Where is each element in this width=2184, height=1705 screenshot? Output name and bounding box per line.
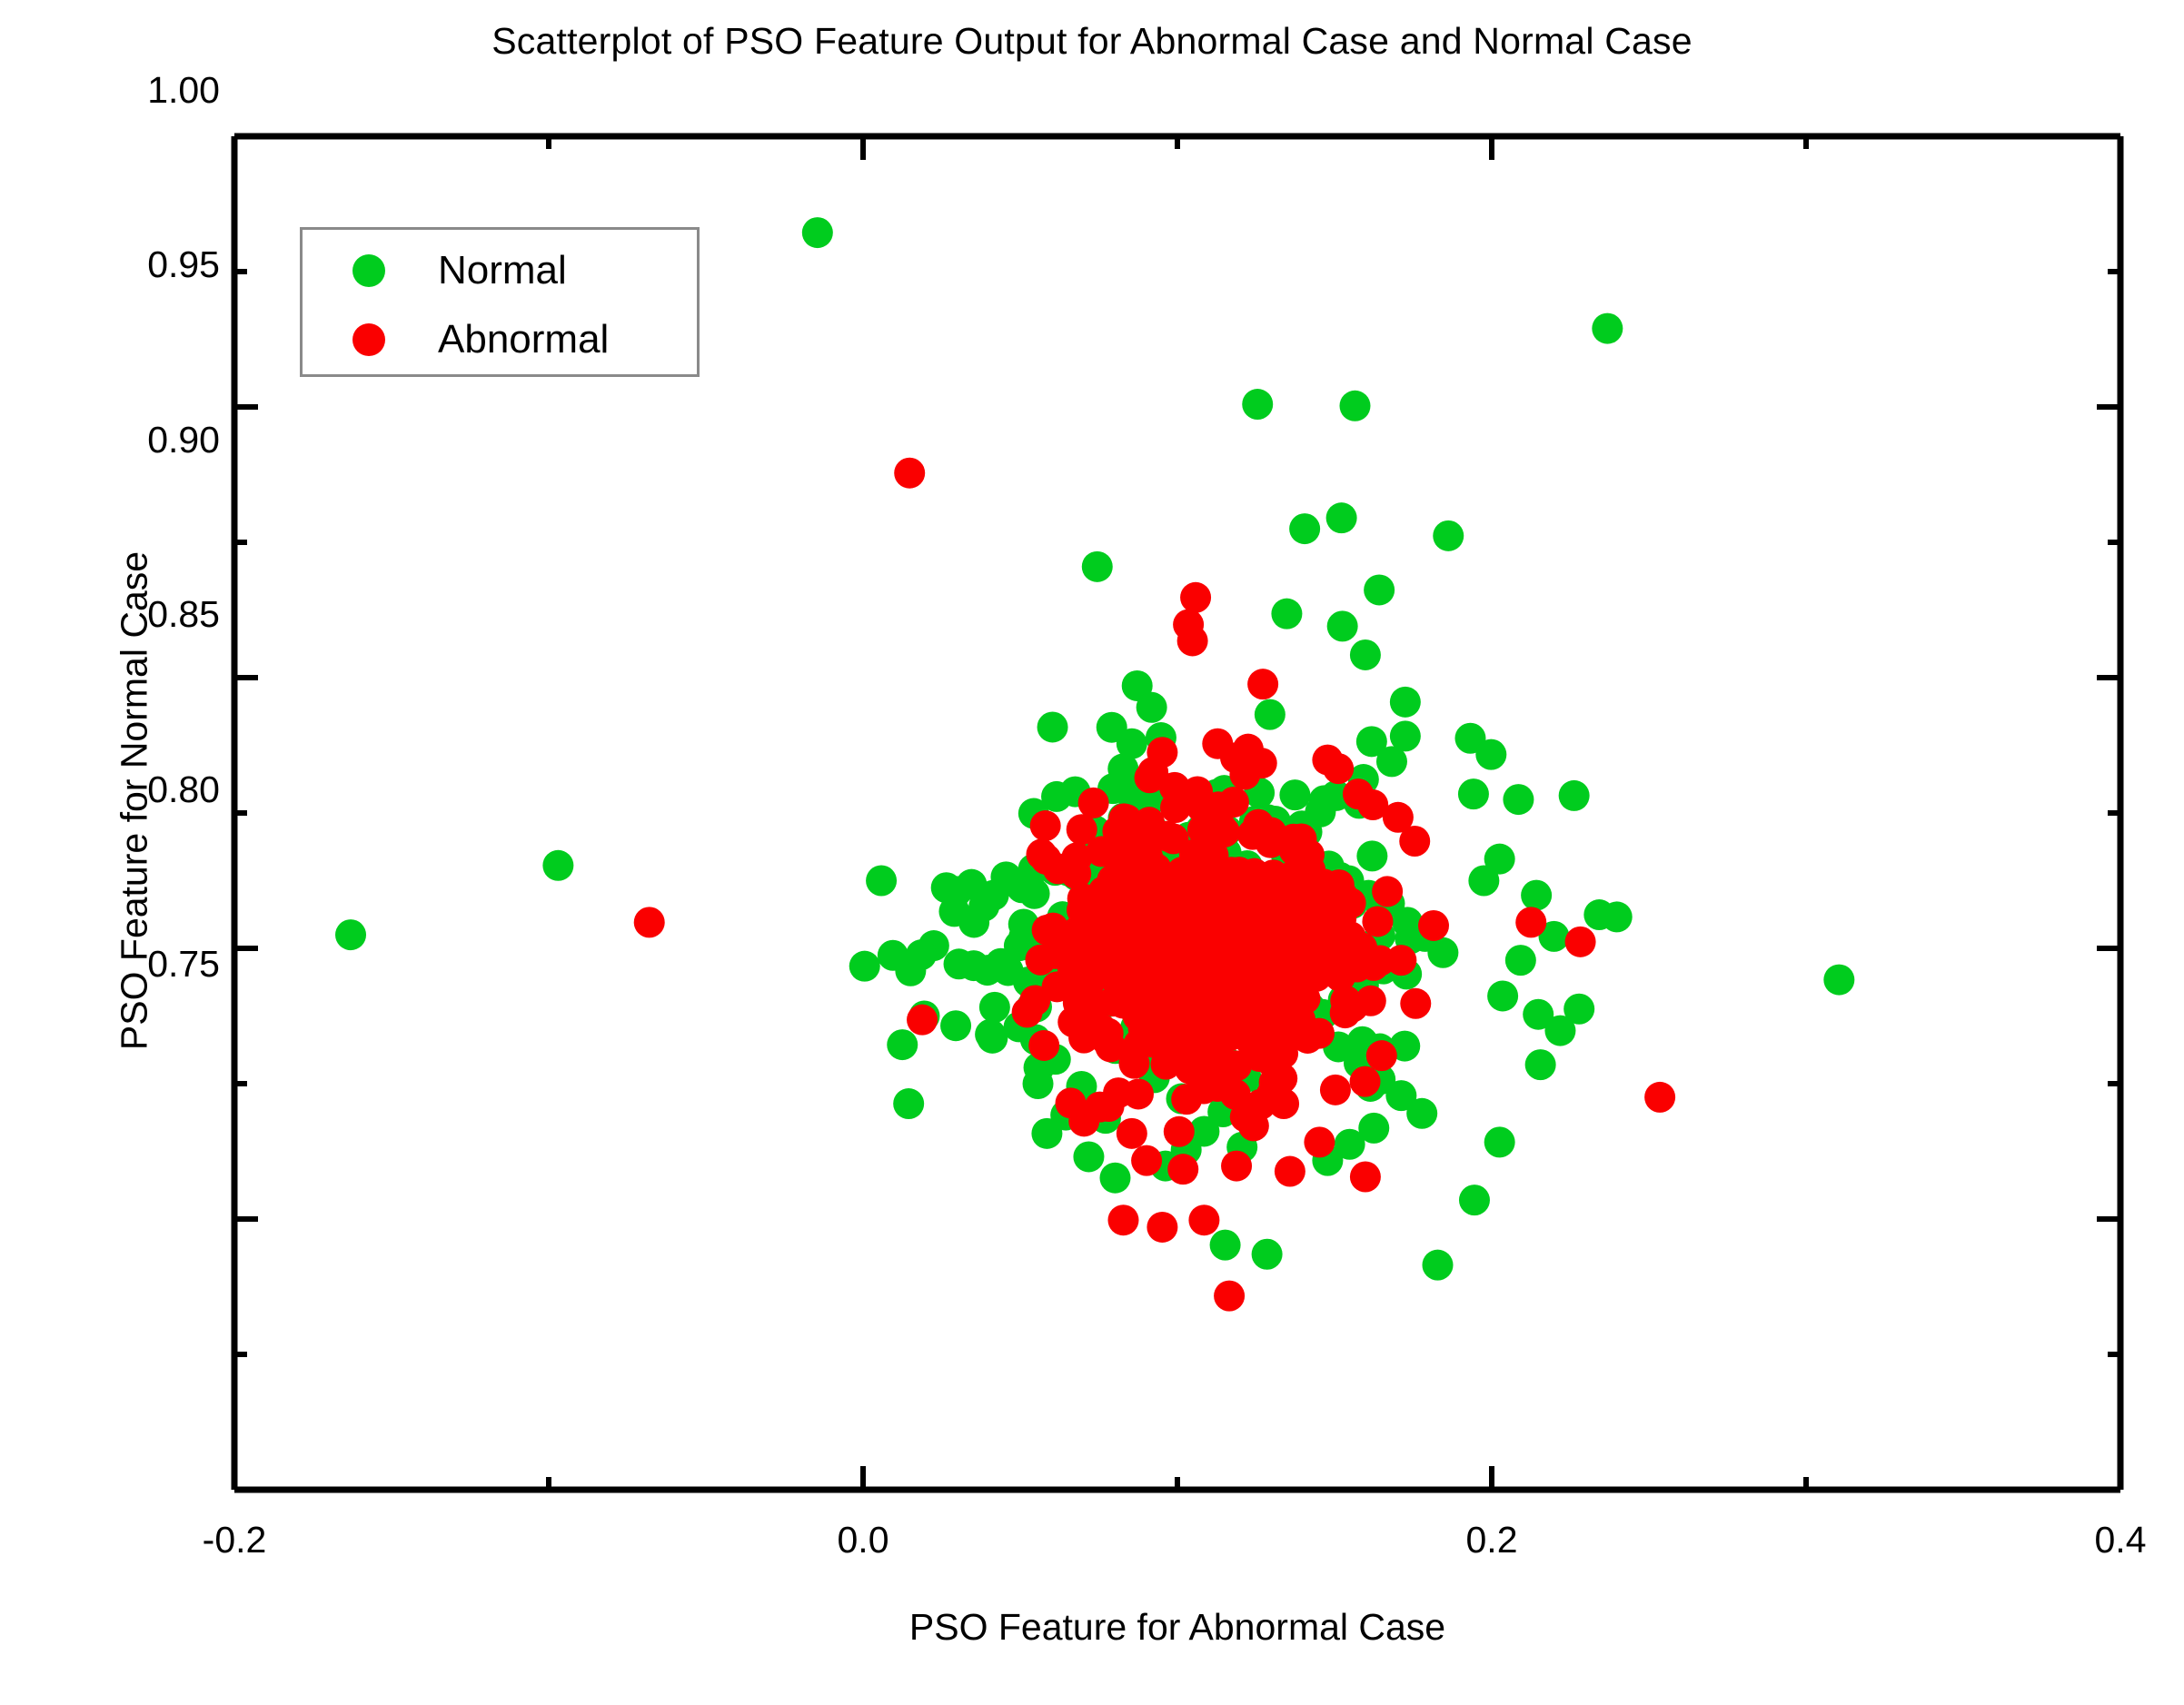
data-point bbox=[1012, 996, 1043, 1027]
data-point bbox=[1031, 1118, 1062, 1149]
y-tick-label-0.95: 0.95 bbox=[56, 243, 220, 286]
data-point bbox=[1247, 669, 1278, 699]
x-tick-label-0.2: 0.2 bbox=[1401, 1519, 1583, 1561]
data-point bbox=[1271, 599, 1302, 629]
data-point bbox=[1152, 821, 1183, 852]
data-point bbox=[1234, 1002, 1265, 1033]
data-point bbox=[1135, 762, 1166, 793]
x-tick-label-0.0: 0.0 bbox=[772, 1519, 954, 1561]
data-point bbox=[1364, 574, 1395, 605]
data-point bbox=[1487, 980, 1518, 1011]
data-point bbox=[958, 950, 989, 981]
chart-figure: Scatterplot of PSO Feature Output for Ab… bbox=[0, 0, 2184, 1705]
data-point bbox=[849, 951, 880, 982]
data-point bbox=[1525, 1049, 1556, 1080]
data-point bbox=[1188, 1010, 1219, 1041]
data-point bbox=[1221, 1151, 1252, 1182]
data-point bbox=[1366, 1040, 1397, 1071]
data-point bbox=[1037, 711, 1068, 742]
data-point bbox=[1459, 1185, 1490, 1215]
data-point bbox=[1339, 391, 1370, 421]
data-point bbox=[1271, 1016, 1302, 1046]
data-point bbox=[906, 939, 937, 970]
data-point bbox=[940, 1010, 971, 1041]
data-point bbox=[1287, 845, 1318, 876]
data-point bbox=[1221, 965, 1252, 996]
data-point bbox=[1350, 1162, 1381, 1193]
x-tick-label-0.4: 0.4 bbox=[2030, 1519, 2184, 1561]
data-point bbox=[1166, 880, 1197, 911]
data-point bbox=[1206, 812, 1236, 843]
data-point bbox=[1362, 906, 1393, 937]
data-point bbox=[335, 919, 366, 950]
data-point bbox=[1356, 840, 1387, 871]
data-point bbox=[1099, 1163, 1130, 1194]
data-point bbox=[1279, 779, 1310, 810]
data-point bbox=[1422, 1250, 1453, 1281]
series-abnormal bbox=[634, 458, 1675, 1312]
data-point bbox=[1304, 1126, 1335, 1157]
data-point bbox=[1118, 1048, 1149, 1079]
y-axis-title: PSO Feature for Normal Case bbox=[114, 347, 156, 1255]
data-point bbox=[1246, 748, 1277, 778]
data-point bbox=[1390, 687, 1421, 718]
data-point bbox=[1177, 625, 1208, 656]
data-point bbox=[1475, 739, 1506, 770]
data-point bbox=[1028, 1030, 1059, 1061]
data-point bbox=[1164, 1116, 1195, 1147]
data-point bbox=[1160, 792, 1191, 823]
data-point bbox=[1154, 919, 1185, 950]
data-point bbox=[1111, 804, 1142, 835]
data-point bbox=[802, 217, 833, 248]
data-point bbox=[1178, 963, 1209, 994]
data-point bbox=[1326, 502, 1357, 533]
data-point bbox=[1346, 932, 1377, 963]
data-point bbox=[1515, 907, 1546, 937]
data-point bbox=[894, 458, 925, 489]
data-point bbox=[1323, 753, 1354, 784]
data-point bbox=[1243, 809, 1274, 840]
data-point bbox=[1399, 826, 1430, 857]
data-point bbox=[1242, 389, 1273, 420]
chart-legend: Normal Abnormal bbox=[300, 227, 700, 377]
data-point bbox=[1087, 1017, 1117, 1048]
data-point bbox=[1258, 859, 1289, 890]
data-point bbox=[1094, 1091, 1125, 1122]
data-point bbox=[866, 866, 897, 897]
data-point bbox=[1082, 551, 1113, 582]
data-point bbox=[1484, 1126, 1515, 1157]
data-point bbox=[1337, 991, 1368, 1022]
data-point bbox=[1117, 729, 1147, 759]
data-point bbox=[878, 940, 908, 971]
data-point bbox=[1246, 1038, 1277, 1069]
legend-label-normal: Normal bbox=[438, 248, 567, 293]
data-point bbox=[1119, 977, 1150, 1008]
data-point bbox=[1400, 988, 1431, 1019]
data-point bbox=[1823, 965, 1854, 996]
data-point bbox=[1325, 961, 1355, 992]
data-point bbox=[1564, 994, 1594, 1025]
data-point bbox=[542, 850, 573, 881]
data-point bbox=[1084, 888, 1115, 919]
data-point bbox=[1350, 639, 1381, 670]
data-point bbox=[1418, 910, 1449, 941]
data-point bbox=[1224, 857, 1255, 887]
data-point bbox=[1299, 883, 1330, 914]
data-point bbox=[1565, 927, 1596, 957]
data-point bbox=[1030, 844, 1061, 875]
data-point bbox=[1030, 810, 1061, 841]
legend-item-normal: Normal bbox=[303, 235, 697, 306]
data-point bbox=[1194, 883, 1225, 914]
data-point bbox=[1259, 1067, 1290, 1098]
data-point bbox=[1245, 906, 1276, 937]
data-point bbox=[1078, 788, 1109, 818]
data-point bbox=[968, 891, 999, 922]
data-point bbox=[1427, 937, 1458, 968]
data-point bbox=[1468, 866, 1499, 897]
data-point bbox=[1207, 927, 1238, 957]
y-tick-label-1.00: 1.00 bbox=[56, 69, 220, 112]
data-point bbox=[1458, 778, 1489, 809]
data-point bbox=[986, 948, 1017, 979]
data-point bbox=[1117, 1118, 1147, 1149]
data-point bbox=[1385, 945, 1416, 976]
data-point bbox=[1320, 1075, 1351, 1105]
data-point bbox=[1107, 1204, 1138, 1235]
data-point bbox=[1073, 969, 1104, 1000]
data-point bbox=[1147, 1212, 1177, 1243]
data-point bbox=[1406, 1098, 1437, 1129]
data-point bbox=[1101, 837, 1132, 867]
data-point bbox=[1214, 1281, 1245, 1312]
data-point bbox=[1128, 1013, 1159, 1044]
data-point bbox=[1505, 945, 1536, 976]
data-point bbox=[1559, 780, 1590, 811]
data-point bbox=[1188, 1204, 1219, 1235]
data-point bbox=[1289, 513, 1320, 544]
data-point bbox=[1503, 784, 1534, 815]
x-tick-label--0.2: -0.2 bbox=[144, 1519, 325, 1561]
data-point bbox=[1202, 1071, 1233, 1102]
data-point bbox=[1275, 1156, 1305, 1187]
data-point bbox=[1644, 1082, 1675, 1113]
data-point bbox=[1252, 1239, 1283, 1270]
data-point bbox=[1131, 1145, 1162, 1176]
data-point bbox=[979, 992, 1010, 1023]
data-point bbox=[1019, 878, 1050, 909]
data-point bbox=[887, 1029, 918, 1060]
data-point bbox=[1195, 1039, 1226, 1070]
legend-label-abnormal: Abnormal bbox=[438, 317, 609, 362]
data-point bbox=[1167, 1154, 1198, 1185]
data-point bbox=[1180, 582, 1211, 613]
x-axis-title: PSO Feature for Abnormal Case bbox=[234, 1606, 2120, 1649]
data-point bbox=[1073, 1141, 1104, 1172]
data-point bbox=[1210, 1230, 1241, 1261]
data-point bbox=[1602, 901, 1633, 932]
data-point bbox=[1372, 876, 1403, 907]
data-point bbox=[907, 1005, 938, 1036]
data-point bbox=[893, 1088, 924, 1119]
data-point bbox=[1150, 1049, 1181, 1080]
data-point bbox=[634, 907, 665, 937]
data-point bbox=[1350, 1066, 1381, 1097]
legend-swatch-normal-icon bbox=[352, 254, 385, 287]
data-point bbox=[1040, 938, 1071, 969]
data-point bbox=[975, 1019, 1006, 1050]
data-point bbox=[1433, 520, 1464, 551]
data-point bbox=[1103, 937, 1134, 968]
data-point bbox=[1592, 313, 1623, 344]
data-point bbox=[1137, 692, 1167, 723]
data-point bbox=[1327, 610, 1358, 641]
data-point bbox=[1311, 925, 1342, 956]
legend-swatch-abnormal-icon bbox=[352, 323, 385, 356]
data-point bbox=[1521, 880, 1552, 911]
data-point bbox=[1255, 699, 1286, 730]
scatter-points-group bbox=[335, 217, 1854, 1312]
data-point bbox=[1390, 720, 1421, 751]
data-point bbox=[1180, 842, 1211, 873]
legend-item-abnormal: Abnormal bbox=[303, 304, 697, 375]
